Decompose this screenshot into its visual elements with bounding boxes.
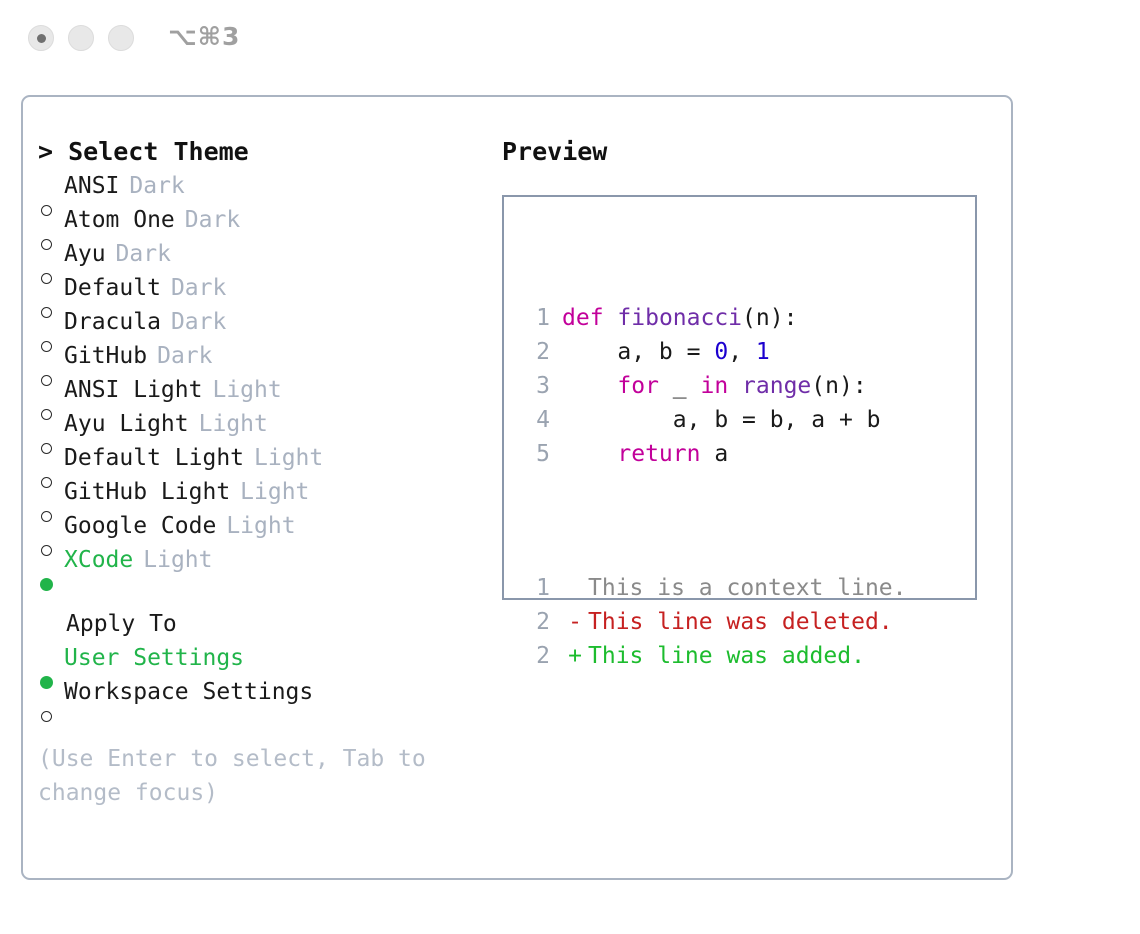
theme-list-item[interactable]: GitHubDark bbox=[38, 339, 478, 373]
keyboard-hint-text: (Use Enter to select, Tab to change focu… bbox=[38, 742, 448, 810]
theme-list-item[interactable]: DefaultDark bbox=[38, 271, 478, 305]
code-token-pl: (n): bbox=[742, 305, 797, 331]
theme-list-item[interactable]: Google CodeLight bbox=[38, 509, 478, 543]
code-line-text: a, b = b, a + b bbox=[562, 403, 881, 437]
code-token-kw: return bbox=[617, 441, 700, 467]
code-line-number: 5 bbox=[516, 437, 562, 471]
code-token-kw: def bbox=[562, 305, 604, 331]
preview-heading: Preview bbox=[502, 135, 992, 169]
radio-bullet bbox=[41, 341, 52, 352]
code-token-pl bbox=[728, 373, 742, 399]
radio-bullet bbox=[41, 711, 52, 722]
theme-list-item[interactable]: Default LightLight bbox=[38, 441, 478, 475]
radio-bullet bbox=[41, 273, 52, 284]
radio-bullet bbox=[41, 307, 52, 318]
radio-bullet bbox=[41, 239, 52, 250]
code-token-num: 1 bbox=[756, 339, 770, 365]
theme-variant-badge: Light bbox=[240, 475, 309, 509]
code-line-number: 1 bbox=[516, 301, 562, 335]
code-preview: 1def fibonacci(n):2 a, b = 0, 13 for _ i… bbox=[516, 233, 907, 741]
code-line: 5 return a bbox=[516, 437, 907, 471]
theme-variant-badge: Light bbox=[254, 441, 323, 475]
radio-bullet bbox=[40, 676, 53, 689]
code-token-pl: a, b = b, a + b bbox=[562, 407, 881, 433]
window-dot-second[interactable] bbox=[68, 25, 94, 51]
apply-to-option[interactable]: User Settings bbox=[38, 641, 478, 675]
theme-name: ANSI Light bbox=[64, 373, 202, 407]
window-dot-third[interactable] bbox=[108, 25, 134, 51]
theme-variant-badge: Dark bbox=[185, 203, 240, 237]
diff-sample: 1 This is a context line.2-This line was… bbox=[516, 571, 907, 673]
theme-variant-badge: Light bbox=[226, 509, 295, 543]
radio-bullet bbox=[41, 409, 52, 420]
code-line: 3 for _ in range(n): bbox=[516, 369, 907, 403]
diff-line-number: 2 bbox=[516, 639, 562, 673]
code-line-text: return a bbox=[562, 437, 728, 471]
keyboard-shortcut-label: ⌥⌘3 bbox=[168, 22, 240, 51]
theme-list-item[interactable]: GitHub LightLight bbox=[38, 475, 478, 509]
diff-line-text: This is a context line. bbox=[588, 571, 907, 605]
code-token-kw: in bbox=[700, 373, 728, 399]
code-token-pl bbox=[562, 441, 617, 467]
code-line: 1def fibonacci(n): bbox=[516, 301, 907, 335]
select-theme-heading: > Select Theme bbox=[38, 135, 478, 169]
code-line-text: a, b = 0, 1 bbox=[562, 335, 770, 369]
app-window: ⌥⌘3 > Select Theme ANSIDarkAtom OneDarkA… bbox=[0, 0, 1140, 934]
traffic-light-buttons bbox=[28, 25, 134, 51]
code-token-num: 0 bbox=[714, 339, 728, 365]
diff-line-number: 1 bbox=[516, 571, 562, 605]
preview-box: 1def fibonacci(n):2 a, b = 0, 13 for _ i… bbox=[502, 195, 977, 600]
radio-bullet bbox=[41, 375, 52, 386]
theme-name: Default bbox=[64, 271, 161, 305]
code-token-pl: a, b = bbox=[562, 339, 714, 365]
radio-bullet bbox=[41, 477, 52, 488]
theme-list-item[interactable]: Ayu LightLight bbox=[38, 407, 478, 441]
theme-name: GitHub Light bbox=[64, 475, 230, 509]
diff-marker: + bbox=[562, 639, 588, 673]
code-line: 4 a, b = b, a + b bbox=[516, 403, 907, 437]
apply-to-label: User Settings bbox=[64, 641, 244, 675]
window-dot-active[interactable] bbox=[28, 25, 54, 51]
theme-name: XCode bbox=[64, 543, 133, 577]
code-sample: 1def fibonacci(n):2 a, b = 0, 13 for _ i… bbox=[516, 301, 907, 471]
theme-name: Ayu Light bbox=[64, 407, 189, 441]
code-token-pl: _ bbox=[659, 373, 701, 399]
apply-to-option[interactable]: Workspace Settings bbox=[38, 675, 478, 709]
code-token-fn: range bbox=[742, 373, 811, 399]
theme-list-item[interactable]: ANSI LightLight bbox=[38, 373, 478, 407]
code-line-number: 2 bbox=[516, 335, 562, 369]
diff-line-text: This line was added. bbox=[588, 639, 865, 673]
theme-variant-badge: Dark bbox=[129, 169, 184, 203]
radio-bullet bbox=[40, 578, 53, 591]
theme-name: GitHub bbox=[64, 339, 147, 373]
theme-list-item[interactable]: Atom OneDark bbox=[38, 203, 478, 237]
diff-line-add: 2+This line was added. bbox=[516, 639, 907, 673]
radio-bullet bbox=[41, 443, 52, 454]
apply-to-heading: Apply To bbox=[38, 607, 478, 641]
code-token-pl bbox=[562, 373, 617, 399]
apply-to-label: Workspace Settings bbox=[64, 675, 313, 709]
code-token-pl: a bbox=[700, 441, 728, 467]
code-line-number: 3 bbox=[516, 369, 562, 403]
active-dot-icon bbox=[37, 34, 46, 43]
theme-list-item[interactable]: DraculaDark bbox=[38, 305, 478, 339]
theme-name: Ayu bbox=[64, 237, 106, 271]
code-token-pl: , bbox=[728, 339, 756, 365]
theme-list[interactable]: ANSIDarkAtom OneDarkAyuDarkDefaultDarkDr… bbox=[38, 169, 478, 577]
theme-variant-badge: Dark bbox=[171, 271, 226, 305]
radio-bullet bbox=[41, 511, 52, 522]
theme-list-item[interactable]: ANSIDark bbox=[38, 169, 478, 203]
theme-name: Google Code bbox=[64, 509, 216, 543]
code-token-pl: (n): bbox=[811, 373, 866, 399]
code-line-text: for _ in range(n): bbox=[562, 369, 867, 403]
theme-list-item[interactable]: AyuDark bbox=[38, 237, 478, 271]
apply-to-section: Apply To User SettingsWorkspace Settings bbox=[38, 607, 478, 709]
theme-variant-badge: Dark bbox=[171, 305, 226, 339]
theme-variant-badge: Dark bbox=[116, 237, 171, 271]
radio-bullet bbox=[41, 205, 52, 216]
diff-line-del: 2-This line was deleted. bbox=[516, 605, 907, 639]
theme-selection-column: > Select Theme ANSIDarkAtom OneDarkAyuDa… bbox=[38, 135, 478, 810]
diff-line-number: 2 bbox=[516, 605, 562, 639]
radio-bullet bbox=[41, 545, 52, 556]
code-token-fn: fibonacci bbox=[617, 305, 742, 331]
code-line-text: def fibonacci(n): bbox=[562, 301, 797, 335]
theme-name: Default Light bbox=[64, 441, 244, 475]
theme-variant-badge: Light bbox=[199, 407, 268, 441]
apply-to-options[interactable]: User SettingsWorkspace Settings bbox=[38, 641, 478, 709]
theme-name: Atom One bbox=[64, 203, 175, 237]
theme-variant-badge: Dark bbox=[157, 339, 212, 373]
diff-marker: - bbox=[562, 605, 588, 639]
theme-name: Dracula bbox=[64, 305, 161, 339]
theme-variant-badge: Light bbox=[212, 373, 281, 407]
theme-variant-badge: Light bbox=[143, 543, 212, 577]
diff-line-context: 1 This is a context line. bbox=[516, 571, 907, 605]
diff-line-text: This line was deleted. bbox=[588, 605, 893, 639]
code-line: 2 a, b = 0, 1 bbox=[516, 335, 907, 369]
code-token-kw: for bbox=[617, 373, 659, 399]
code-line-number: 4 bbox=[516, 403, 562, 437]
theme-name: ANSI bbox=[64, 169, 119, 203]
theme-picker-panel: > Select Theme ANSIDarkAtom OneDarkAyuDa… bbox=[21, 95, 1013, 880]
theme-list-item[interactable]: XCodeLight bbox=[38, 543, 478, 577]
title-bar: ⌥⌘3 bbox=[0, 0, 1140, 78]
code-token-pl bbox=[604, 305, 618, 331]
preview-column: Preview 1def fibonacci(n):2 a, b = 0, 13… bbox=[502, 135, 992, 600]
diff-marker bbox=[562, 571, 588, 605]
